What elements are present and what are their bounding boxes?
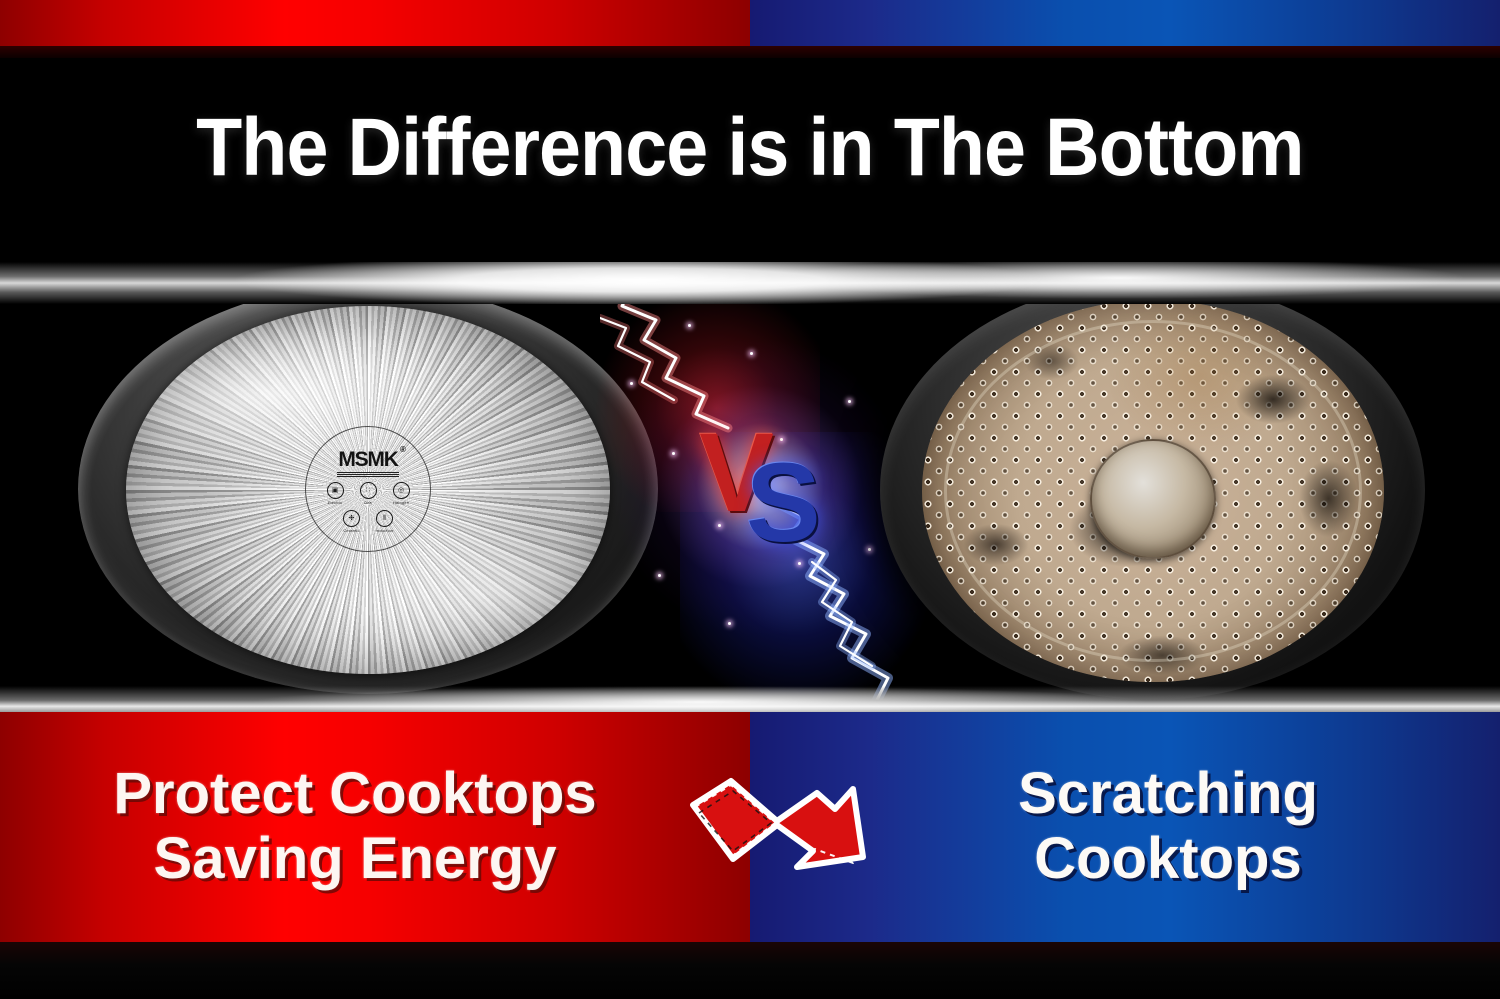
top-color-bar xyxy=(0,0,1500,46)
gas-cooktop-glyph: ∷ xyxy=(360,482,377,499)
arrow-slot xyxy=(680,775,876,879)
electric-cooktop-icon: ▣ Electric xyxy=(322,482,348,505)
msmk-wordmark-text: MSMK xyxy=(338,448,397,471)
halogen-cooktop-glyph: ◎ xyxy=(393,482,410,499)
induction-cooktop-label: Induction xyxy=(375,528,393,533)
versus-letter-s: S xyxy=(746,440,821,565)
left-caption-line-2: Saving Energy xyxy=(30,827,680,892)
right-caption-line-2: Cooktops xyxy=(876,827,1460,892)
electric-cooktop-label: Electric xyxy=(328,500,343,505)
left-caption: Protect Cooktops Saving Energy xyxy=(0,762,680,892)
msmk-wordmark: MSMK® xyxy=(338,449,397,470)
badge-rule-lines xyxy=(337,472,399,477)
registered-trademark-icon: ® xyxy=(400,446,405,454)
band-top-glow-strip xyxy=(0,262,1500,304)
msmk-brand-badge: MSMK® ▣ Electric ∷ Gas ◎ Halogen xyxy=(305,426,431,552)
caption-row: Protect Cooktops Saving Energy Scratchin… xyxy=(0,712,1500,942)
cooktop-icon-row-bottom: ❉ Ceramic ⦀ Induction xyxy=(339,510,398,533)
headline-area: The Difference is in The Bottom xyxy=(0,58,1500,238)
halogen-cooktop-icon: ◎ Halogen xyxy=(388,482,414,505)
induction-cooktop-glyph: ⦀ xyxy=(376,510,393,527)
ceramic-cooktop-icon: ❉ Ceramic xyxy=(339,510,365,533)
zigzag-down-arrow-icon xyxy=(685,775,871,879)
versus-badge: VS xyxy=(699,431,820,543)
halogen-cooktop-label: Halogen xyxy=(393,500,409,505)
cooktop-icon-row-top: ▣ Electric ∷ Gas ◎ Halogen xyxy=(322,482,414,505)
induction-cooktop-icon: ⦀ Induction xyxy=(372,510,398,533)
electric-cooktop-glyph: ▣ xyxy=(327,482,344,499)
center-worn-plate xyxy=(1090,439,1216,559)
page-title: The Difference is in The Bottom xyxy=(196,101,1303,195)
gas-cooktop-icon: ∷ Gas xyxy=(355,482,381,505)
comparison-photo-band: MSMK® ▣ Electric ∷ Gas ◎ Halogen xyxy=(0,262,1500,712)
dimpled-worn-disc xyxy=(922,300,1384,682)
band-bottom-glow-strip xyxy=(0,686,1500,712)
bad-pan-image xyxy=(880,280,1425,700)
good-pan-image: MSMK® ▣ Electric ∷ Gas ◎ Halogen xyxy=(78,284,658,694)
ceramic-cooktop-label: Ceramic xyxy=(343,528,359,533)
gas-cooktop-label: Gas xyxy=(364,500,372,505)
bottom-shadow-strip xyxy=(0,942,1500,999)
left-caption-line-1: Protect Cooktops xyxy=(30,762,680,827)
versus-letter-v: V xyxy=(699,410,774,535)
ceramic-cooktop-glyph: ❉ xyxy=(343,510,360,527)
right-caption: Scratching Cooktops xyxy=(876,762,1500,892)
right-caption-line-1: Scratching xyxy=(876,762,1460,827)
top-bar-red-half xyxy=(0,0,750,46)
product-comparison-poster: The Difference is in The Bottom MSMK® ▣ … xyxy=(0,0,1500,999)
top-bar-blue-half xyxy=(750,0,1500,46)
